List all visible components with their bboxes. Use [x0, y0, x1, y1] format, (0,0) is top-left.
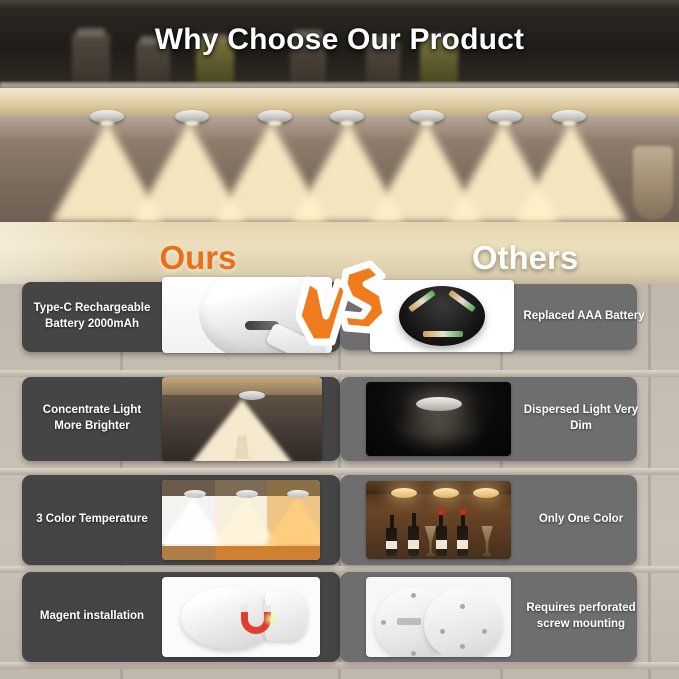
ours-image-color-temperature [162, 480, 320, 560]
page-title: Why Choose Our Product [0, 23, 679, 57]
others-image-brightness [366, 382, 511, 456]
ours-panel-color-temperature[interactable]: 3 Color Temperature [22, 475, 340, 565]
ours-panel-brightness[interactable]: Concentrate Light More Brighter [22, 377, 340, 461]
ours-label-installation: Magent installation [22, 609, 162, 625]
others-column-label: Others [455, 239, 595, 277]
hero-image [0, 88, 679, 222]
ours-label-battery: Type-C Rechargeable Battery 2000mAh [22, 301, 162, 332]
ours-image-brightness [162, 377, 322, 461]
others-panel-brightness[interactable]: Dispersed Light Very Dim [340, 377, 637, 461]
glassware [633, 146, 673, 220]
ours-image-installation [162, 577, 320, 657]
vs-badge [296, 258, 392, 350]
ours-label-brightness: Concentrate Light More Brighter [22, 403, 162, 434]
comparison-row-brightness: Concentrate Light More Brighter Disperse… [0, 377, 679, 461]
others-image-installation [366, 577, 511, 657]
others-panel-color-temperature[interactable]: Only One Color [340, 475, 637, 565]
others-image-color-temperature [366, 481, 511, 559]
others-label-battery: Replaced AAA Battery [514, 309, 654, 325]
light-beam [515, 122, 627, 222]
ours-panel-installation[interactable]: Magent installation [22, 572, 340, 662]
others-label-color-temperature: Only One Color [511, 512, 651, 528]
comparison-row-installation: Magent installation Requires per [0, 572, 679, 664]
others-label-brightness: Dispersed Light Very Dim [511, 403, 651, 434]
comparison-row-color-temperature: 3 Color Temperature Only One [0, 475, 679, 565]
ours-panel-battery[interactable]: Type-C Rechargeable Battery 2000mAh [22, 282, 340, 352]
ours-column-label: Ours [138, 239, 258, 277]
others-label-installation: Requires perforated screw mounting [511, 601, 651, 632]
ours-label-color-temperature: 3 Color Temperature [22, 512, 162, 528]
others-panel-installation[interactable]: Requires perforated screw mounting [340, 572, 637, 662]
